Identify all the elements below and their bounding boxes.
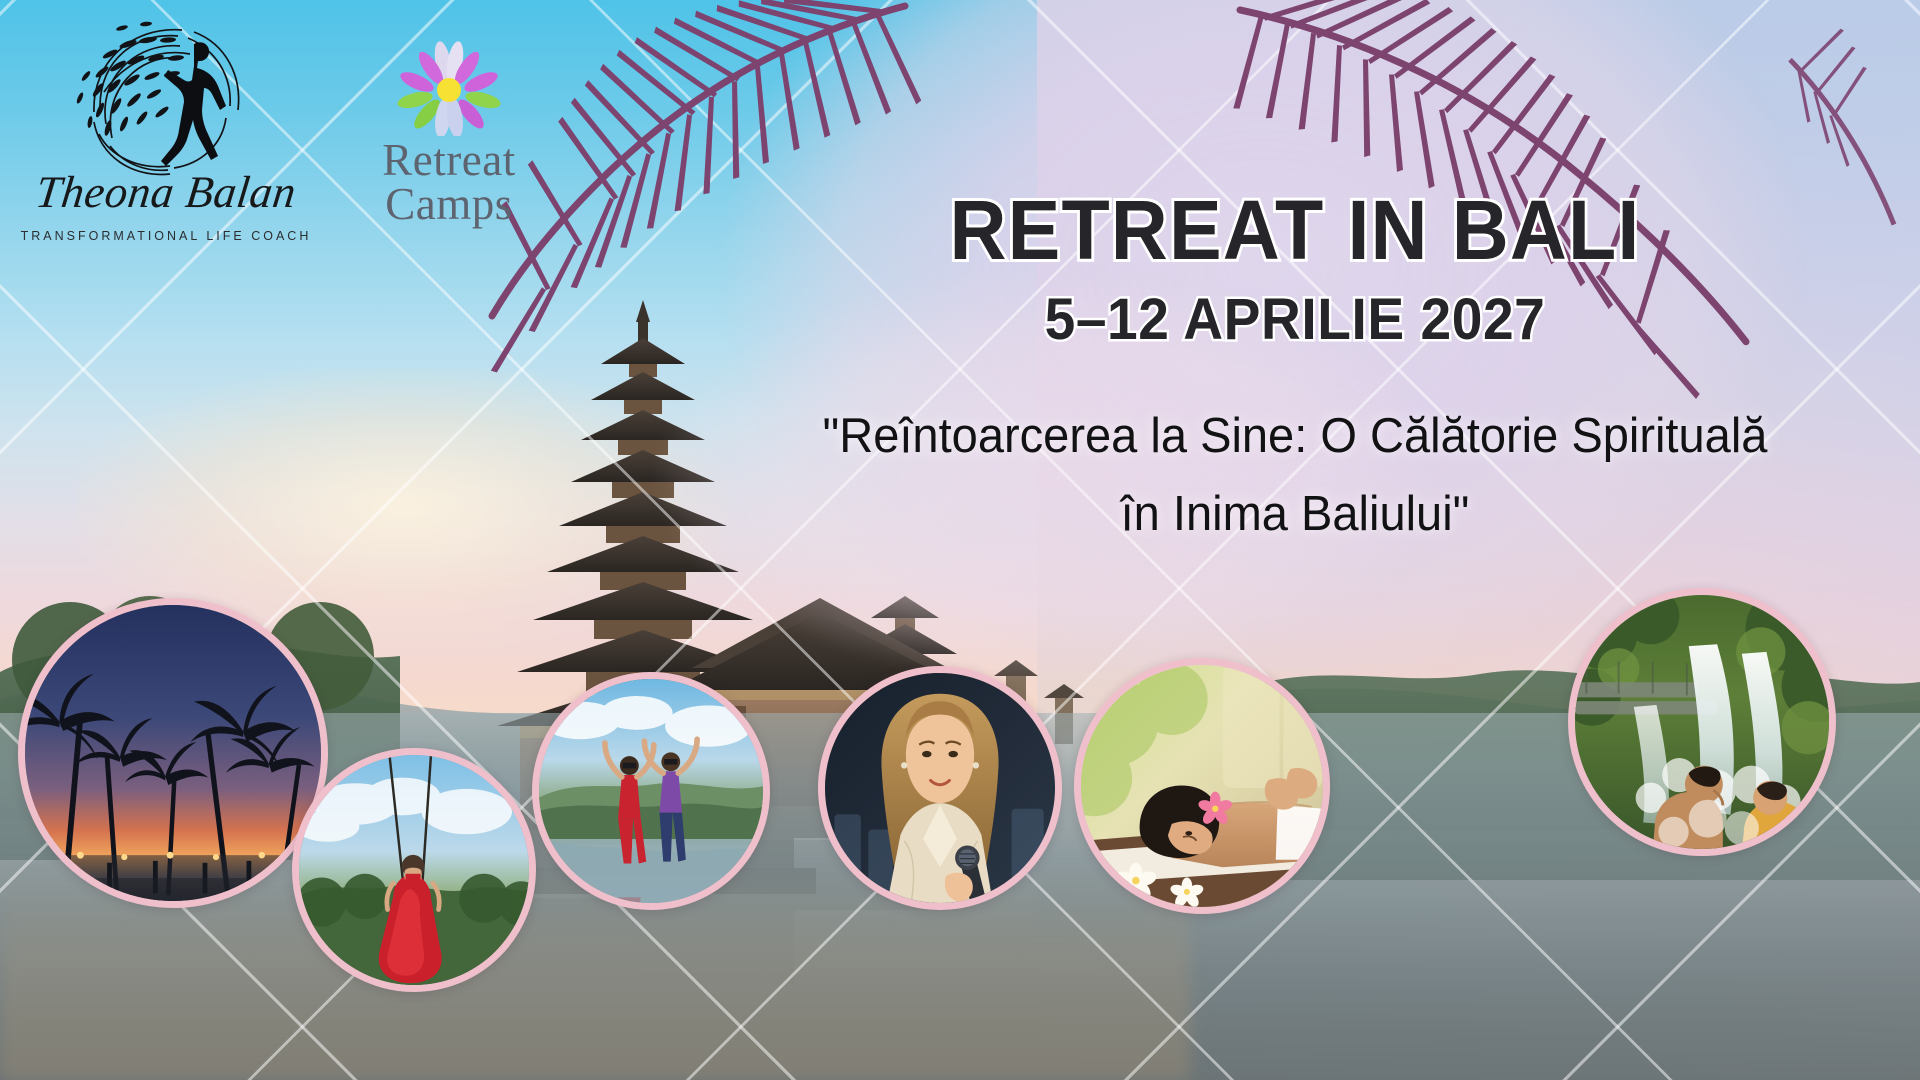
gallery-circle-coach-portrait[interactable]	[818, 666, 1062, 910]
page-title-text: RETREAT IN BALI	[950, 183, 1641, 277]
logo-row: Theona Balan TRANSFORMATIONAL LIFE COACH	[16, 14, 544, 243]
event-tagline: "Reîntoarcerea la Sine: O Călătorie Spir…	[714, 397, 1876, 554]
coach-tagline: TRANSFORMATIONAL LIFE COACH	[16, 229, 316, 243]
event-tagline-line2: în Inima Baliului"	[714, 475, 1876, 553]
coach-portrait-photo	[825, 673, 1055, 903]
daisy-flower-icon	[391, 40, 507, 136]
page-title: RETREAT IN BALI	[726, 188, 1863, 274]
poster-canvas: Theona Balan TRANSFORMATIONAL LIFE COACH	[0, 0, 1920, 1080]
coach-name: Theona Balan	[13, 170, 319, 215]
spa-massage-photo	[1081, 665, 1323, 907]
gallery-circle-spa-massage[interactable]	[1074, 658, 1330, 914]
partner-name-line2: Camps	[354, 182, 544, 226]
two-women-jump-photo	[539, 679, 763, 903]
gallery-circle-two-women-jump[interactable]	[532, 672, 770, 910]
partner-logo[interactable]: Retreat Camps	[354, 14, 544, 226]
palm-sunset-photo	[25, 605, 321, 901]
gallery-circle-waterfall-ritual[interactable]	[1568, 588, 1836, 856]
event-dates: 5–12 APRILIE 2027	[720, 290, 1870, 351]
event-tagline-line1: "Reîntoarcerea la Sine: O Călătorie Spir…	[714, 397, 1876, 475]
coach-logo[interactable]: Theona Balan TRANSFORMATIONAL LIFE COACH	[16, 14, 316, 243]
waterfall-ritual-photo	[1575, 595, 1829, 849]
leaf-swirl-dancer-icon	[66, 14, 266, 186]
gallery-circle-palm-sunset[interactable]	[18, 598, 328, 908]
headline-block: RETREAT IN BALI 5–12 APRILIE 2027 "Reînt…	[690, 188, 1900, 553]
red-dress-swing-photo	[299, 755, 529, 985]
partner-name-line1: Retreat	[354, 138, 544, 182]
gallery-circle-red-dress-swing[interactable]	[292, 748, 536, 992]
